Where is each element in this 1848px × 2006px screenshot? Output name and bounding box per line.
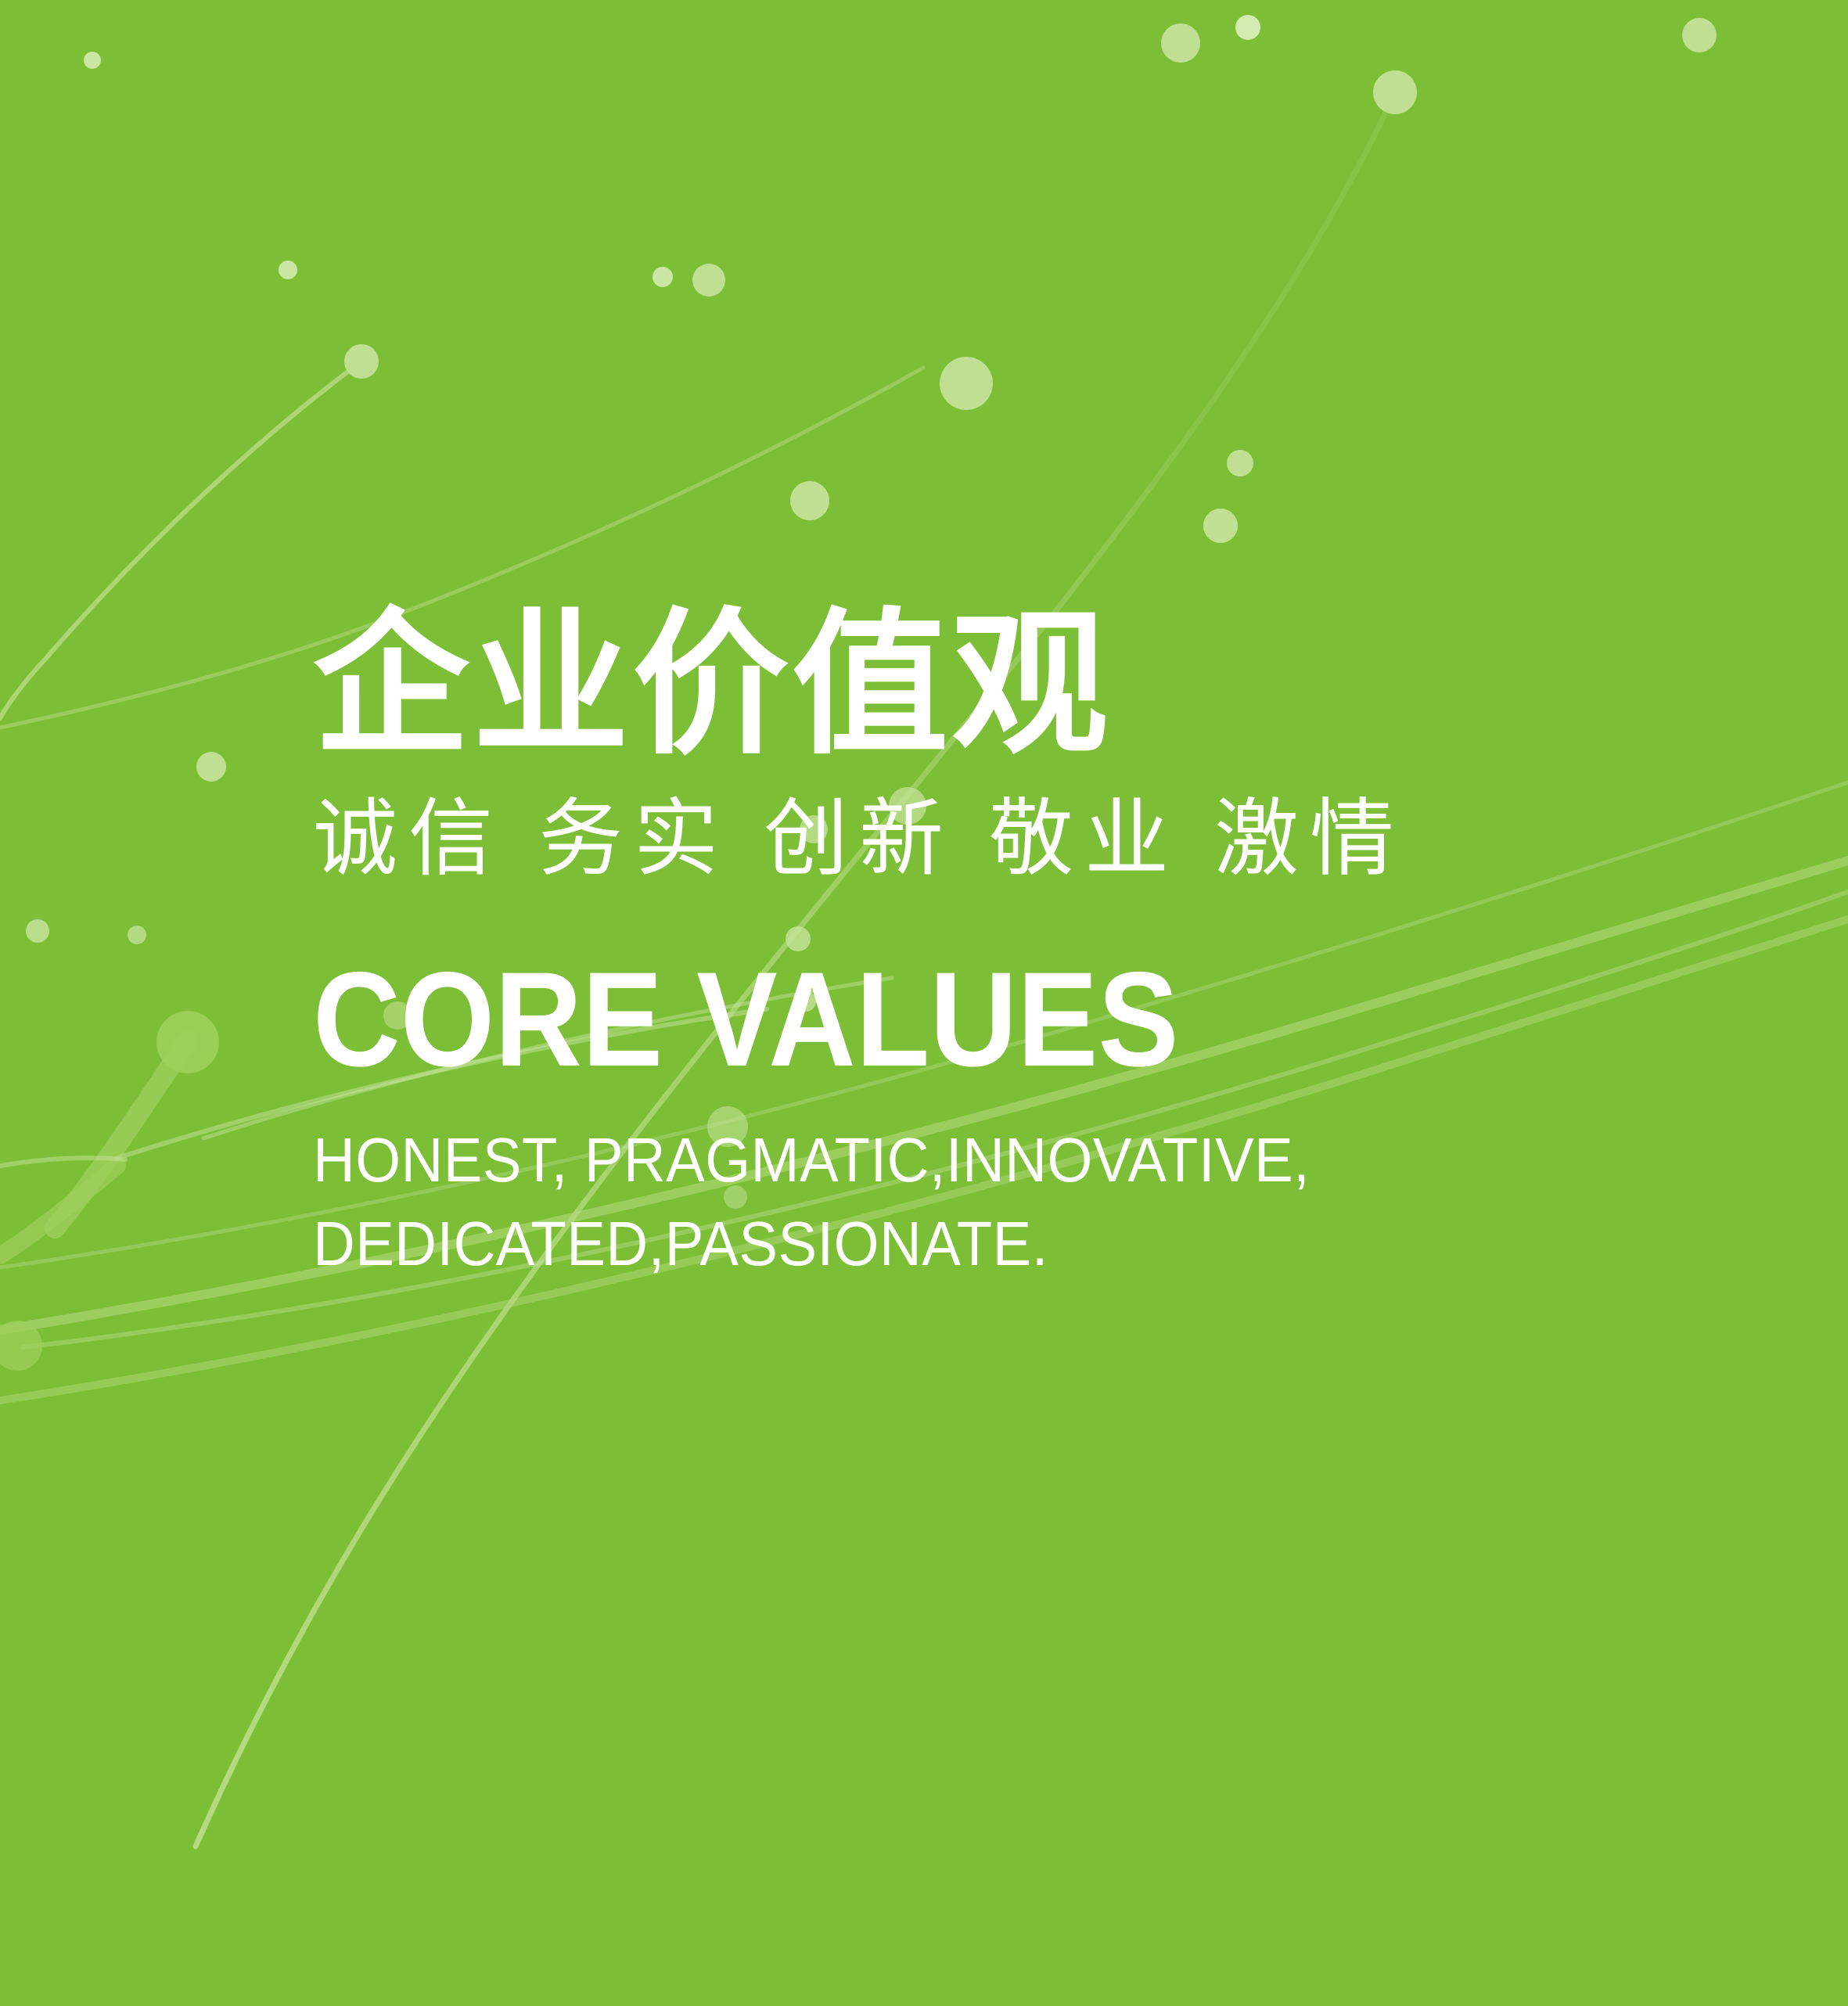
dot-upper-mid xyxy=(279,261,297,279)
poster-canvas: 企业价值观 诚信 务实 创新 敬业 激情 CORE VALUES HONEST,… xyxy=(0,0,1848,2006)
dot-mid-cluster-a xyxy=(692,264,725,297)
page-title-english: CORE VALUES xyxy=(313,952,1580,1087)
page-title-chinese: 企业价值观 xyxy=(313,602,1721,768)
node-hub-small xyxy=(0,1321,42,1371)
node-curve-top xyxy=(1373,70,1417,114)
beam-node-to-lowerleft xyxy=(0,1166,117,1256)
dot-top-right xyxy=(1682,18,1717,52)
body-line-1: HONEST, PRAGMATIC,INNOVATIVE, xyxy=(313,1118,1623,1202)
dot-top-mid xyxy=(1235,15,1260,40)
dot-upper-mid-2 xyxy=(344,344,379,379)
beam-hub-thin-left xyxy=(0,1158,125,1166)
dot-left-stray-2 xyxy=(26,919,49,943)
dot-left-stray xyxy=(196,752,226,782)
body-line-2: DEDICATED,PASSIONATE. xyxy=(313,1202,1623,1285)
dot-top-right-2 xyxy=(1161,23,1200,63)
curve-top-left xyxy=(0,361,361,718)
dot-mid-left xyxy=(653,267,673,287)
body-english-values: HONEST, PRAGMATIC,INNOVATIVE, DEDICATED,… xyxy=(313,1118,1623,1285)
beam-node-to-upper xyxy=(55,1041,188,1228)
dot-mid-cluster-c xyxy=(790,481,829,520)
node-curve-mid2 xyxy=(1203,509,1238,543)
dot-top-left-small xyxy=(84,52,101,69)
subtitle-chinese-values: 诚信 务实 创新 敬业 激情 xyxy=(313,786,1721,891)
node-hub-main xyxy=(156,1011,219,1073)
dot-left-stray-3 xyxy=(128,926,146,944)
dot-mid-cluster-b xyxy=(940,357,993,410)
poster-text-block: 企业价值观 诚信 务实 创新 敬业 激情 CORE VALUES HONEST,… xyxy=(313,602,1721,1285)
node-curve-mid xyxy=(1227,450,1253,476)
